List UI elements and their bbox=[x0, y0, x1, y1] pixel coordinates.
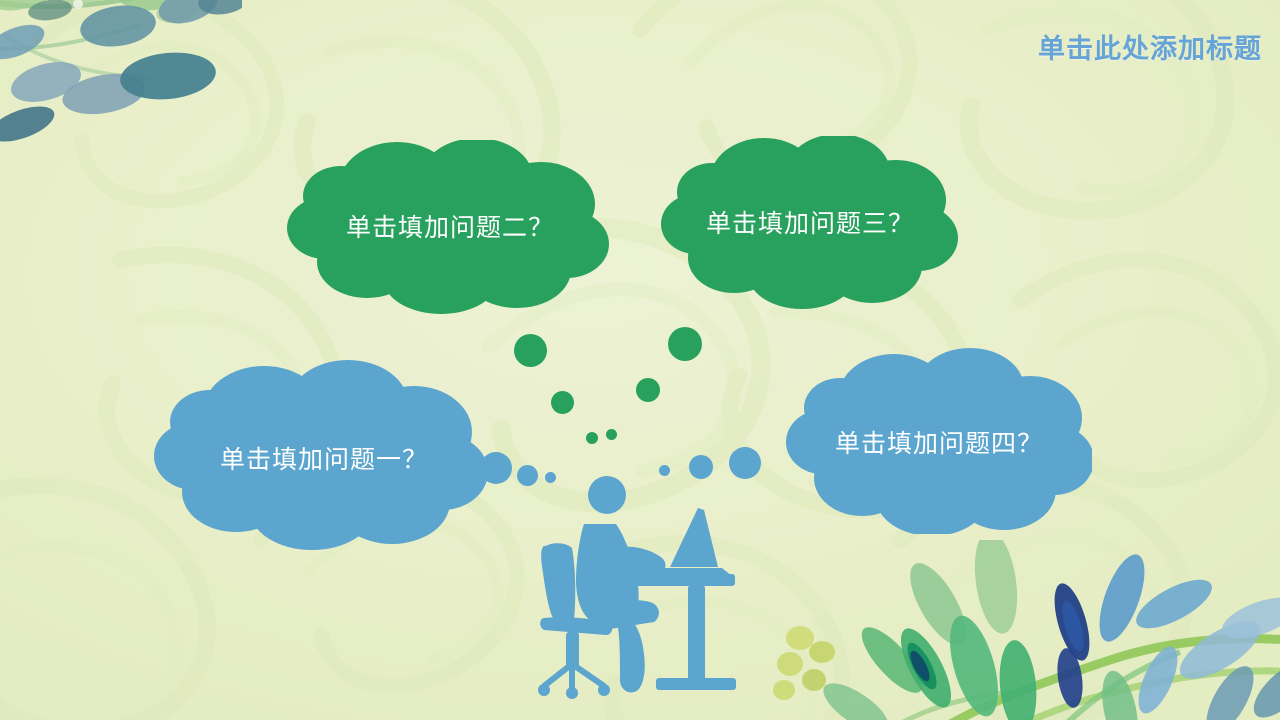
chair-caster-right bbox=[598, 684, 610, 696]
person-at-desk-illustration bbox=[500, 440, 780, 720]
thought-cloud-4[interactable]: 单击填加问题四？ bbox=[786, 348, 1092, 534]
chair-caster-left bbox=[538, 684, 550, 696]
laptop-base bbox=[640, 568, 732, 576]
person-leg bbox=[618, 618, 645, 692]
desk-leg bbox=[688, 586, 705, 682]
watercolor-leaves-bottom-right-icon bbox=[760, 540, 1280, 720]
laptop-screen bbox=[670, 508, 718, 567]
thought-cloud-2[interactable]: 单击填加问题二？ bbox=[285, 140, 615, 314]
thought-bubble-green-large-left bbox=[514, 334, 547, 367]
slide-canvas: 单击此处添加标题 单击填加问题一？ bbox=[0, 0, 1280, 720]
chair-back bbox=[541, 543, 575, 623]
thought-cloud-3[interactable]: 单击填加问题三？ bbox=[660, 136, 960, 310]
chair-base bbox=[544, 664, 604, 690]
person-head bbox=[588, 476, 626, 514]
page-title: 单击此处添加标题 bbox=[1038, 27, 1262, 66]
chair-caster-center bbox=[566, 687, 578, 699]
watercolor-leaves-top-left-icon bbox=[0, 0, 242, 150]
thought-cloud-1[interactable]: 单击填加问题一？ bbox=[152, 360, 496, 552]
thought-bubble-green-mid-left bbox=[551, 391, 574, 414]
thought-bubble-green-large-right bbox=[668, 327, 702, 361]
desk-foot bbox=[656, 678, 736, 690]
thought-bubble-green-mid-right bbox=[636, 378, 660, 402]
thought-bubble-green-small-right bbox=[606, 429, 617, 440]
